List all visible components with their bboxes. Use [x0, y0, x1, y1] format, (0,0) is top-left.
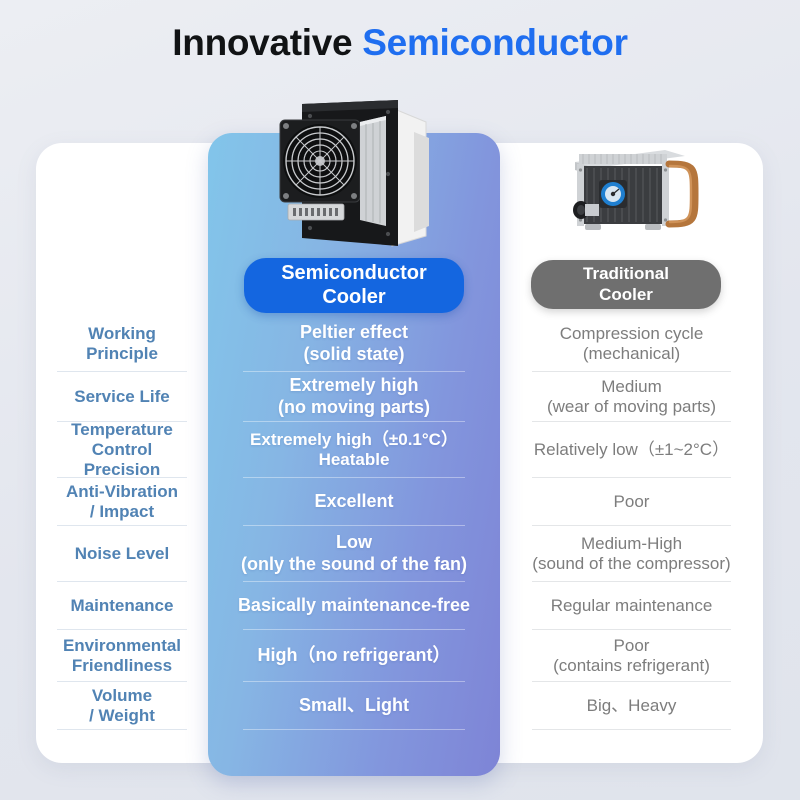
- feature-label: Anti-Vibration/ Impact: [36, 482, 208, 522]
- traditional-value-noise-level: Medium-High(sound of the compressor): [500, 526, 763, 582]
- value-text: Extremely high(no moving parts): [208, 375, 500, 418]
- semiconductor-value-service-life: Extremely high(no moving parts): [208, 372, 500, 422]
- value-text: Peltier effect(solid state): [208, 322, 500, 365]
- value-text: Regular maintenance: [500, 596, 763, 616]
- semiconductor-value-environmental-friendliness: High（no refrigerant）: [208, 630, 500, 682]
- title-accent-text: Semiconductor: [362, 22, 627, 63]
- feature-label: EnvironmentalFriendliness: [36, 636, 208, 676]
- feature-label: TemperatureControlPrecision: [36, 420, 208, 480]
- semiconductor-value-column: Peltier effect(solid state) Extremely hi…: [208, 316, 500, 730]
- title-plain-text: Innovative: [172, 22, 352, 63]
- semiconductor-value-temperature-control-precision: Extremely high（±0.1°C）Heatable: [208, 422, 500, 478]
- feature-label-column: WorkingPrinciple Service Life Temperatur…: [36, 316, 208, 730]
- value-text: Medium-High(sound of the compressor): [500, 534, 763, 575]
- value-text: Basically maintenance-free: [208, 595, 500, 617]
- traditional-value-service-life: Medium(wear of moving parts): [500, 372, 763, 422]
- comparison-board: Innovative Semiconductor: [0, 0, 800, 800]
- traditional-value-environmental-friendliness: Poor(contains refrigerant): [500, 630, 763, 682]
- traditional-value-temperature-control-precision: Relatively low（±1~2°C）: [500, 422, 763, 478]
- feature-label: Service Life: [36, 387, 208, 407]
- value-text: Medium(wear of moving parts): [500, 377, 763, 418]
- semiconductor-value-volume-weight: Small、Light: [208, 682, 500, 730]
- value-text: Compression cycle(mechanical): [500, 324, 763, 365]
- traditional-value-working-principle: Compression cycle(mechanical): [500, 316, 763, 372]
- feature-label: Maintenance: [36, 596, 208, 616]
- feature-row-environmental-friendliness: EnvironmentalFriendliness: [36, 630, 208, 682]
- feature-label: Noise Level: [36, 544, 208, 564]
- feature-label: WorkingPrinciple: [36, 324, 208, 364]
- feature-row-anti-vibration: Anti-Vibration/ Impact: [36, 478, 208, 526]
- value-text: Poor(contains refrigerant): [500, 636, 763, 677]
- feature-row-noise-level: Noise Level: [36, 526, 208, 582]
- feature-row-working-principle: WorkingPrinciple: [36, 316, 208, 372]
- value-text: Low(only the sound of the fan): [208, 532, 500, 575]
- value-text: Small、Light: [208, 695, 500, 717]
- feature-row-service-life: Service Life: [36, 372, 208, 422]
- traditional-value-volume-weight: Big、Heavy: [500, 682, 763, 730]
- value-text: Big、Heavy: [500, 696, 763, 716]
- value-text: High（no refrigerant）: [208, 645, 500, 667]
- value-text: Excellent: [208, 491, 500, 513]
- semiconductor-cooler-badge[interactable]: SemiconductorCooler: [244, 258, 464, 313]
- value-text: Relatively low（±1~2°C）: [500, 440, 763, 460]
- semiconductor-value-working-principle: Peltier effect(solid state): [208, 316, 500, 372]
- traditional-value-anti-vibration: Poor: [500, 478, 763, 526]
- semiconductor-value-maintenance: Basically maintenance-free: [208, 582, 500, 630]
- feature-row-temperature-control-precision: TemperatureControlPrecision: [36, 422, 208, 478]
- traditional-cooler-badge[interactable]: TraditionalCooler: [531, 260, 721, 309]
- feature-row-maintenance: Maintenance: [36, 582, 208, 630]
- value-text: Extremely high（±0.1°C）Heatable: [208, 430, 500, 471]
- traditional-cooler-product-image: [500, 140, 763, 250]
- semiconductor-value-noise-level: Low(only the sound of the fan): [208, 526, 500, 582]
- traditional-value-maintenance: Regular maintenance: [500, 582, 763, 630]
- traditional-value-column: Compression cycle(mechanical) Medium(wea…: [500, 316, 763, 730]
- value-text: Poor: [500, 492, 763, 512]
- semiconductor-cooler-product-image: [208, 86, 500, 252]
- feature-row-volume-weight: Volume/ Weight: [36, 682, 208, 730]
- page-title: Innovative Semiconductor: [0, 22, 800, 65]
- semiconductor-cooler-badge-label: SemiconductorCooler: [281, 262, 427, 309]
- traditional-cooler-badge-label: TraditionalCooler: [583, 264, 669, 304]
- feature-label: Volume/ Weight: [36, 686, 208, 726]
- semiconductor-value-anti-vibration: Excellent: [208, 478, 500, 526]
